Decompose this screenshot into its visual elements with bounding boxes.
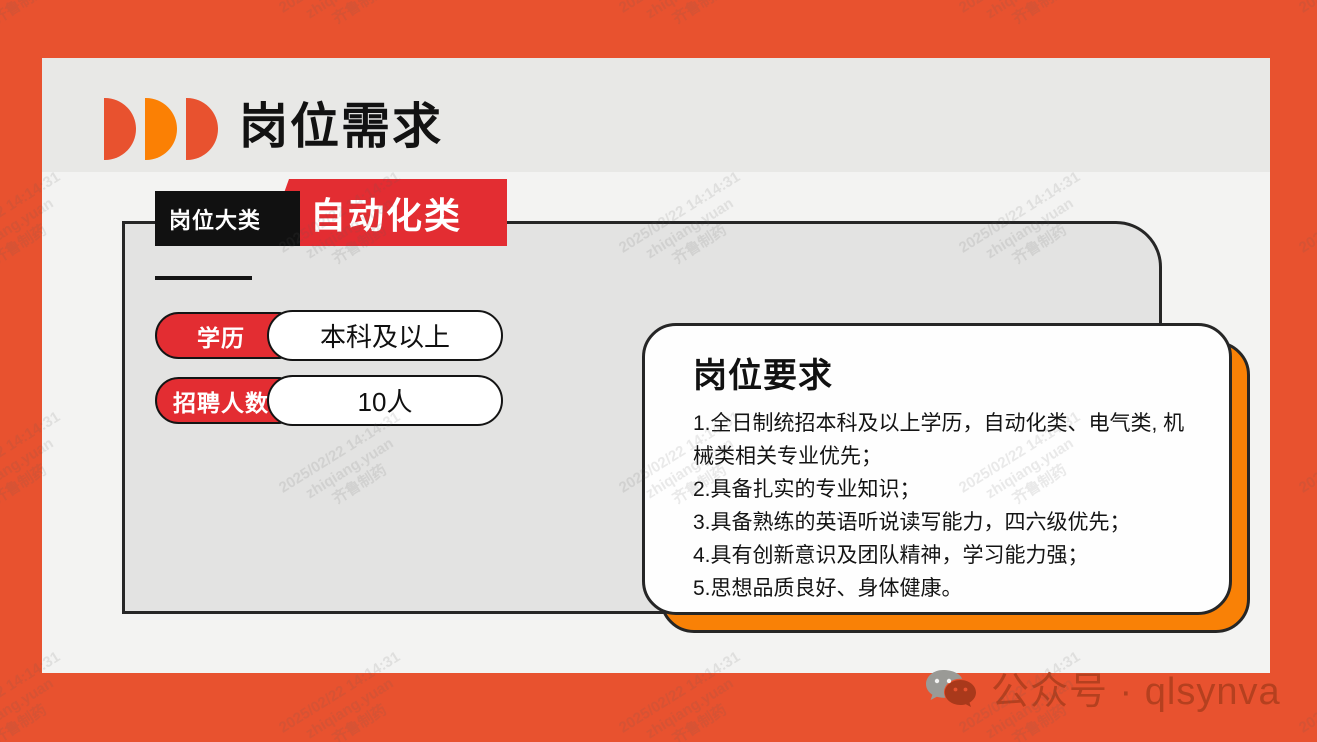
requirement-item-1: 1.全日制统招本科及以上学历，自动化类、电气类, 机械类相关专业优先；	[693, 407, 1199, 473]
watermark-text: 2025/02/22 14:14:31zhiqiang.yuan齐鲁制药	[1295, 167, 1317, 289]
divider-rule	[155, 276, 252, 280]
header-band: 岗位需求	[42, 58, 1270, 172]
category-label: 岗位大类	[155, 191, 300, 246]
logo-d-shape-red-1	[104, 98, 136, 160]
slide-page: 岗位需求 岗位大类 自动化类 学历 本科及以上 招聘人数 10人 岗位要求 1.…	[42, 58, 1270, 673]
field-value-headcount: 10人	[267, 375, 503, 426]
brand-logo	[104, 98, 218, 160]
watermark-text: 2025/02/22 14:14:31zhiqiang.yuan齐鲁制药	[1295, 647, 1317, 742]
footer-brand-text: 公众号 · qlsynva	[991, 660, 1281, 715]
category-value: 自动化类	[265, 179, 507, 246]
watermark-text: 2025/02/22 14:14:31zhiqiang.yuan齐鲁制药	[1295, 0, 1317, 50]
requirement-item-4: 4.具有创新意识及团队精神，学习能力强；	[693, 539, 1199, 572]
requirements-list: 1.全日制统招本科及以上学历，自动化类、电气类, 机械类相关专业优先； 2.具备…	[693, 407, 1199, 605]
requirement-item-2: 2.具备扎实的专业知识；	[693, 473, 1199, 506]
watermark-text: 2025/02/22 14:14:31zhiqiang.yuan齐鲁制药	[955, 0, 1103, 50]
field-value-education: 本科及以上	[267, 310, 503, 361]
requirement-item-5: 5.思想品质良好、身体健康。	[693, 572, 1199, 605]
footer-brand-mark: 公众号 · qlsynva	[925, 660, 1281, 715]
watermark-text: 2025/02/22 14:14:31zhiqiang.yuan齐鲁制药	[275, 0, 423, 50]
watermark-text: 2025/02/22 14:14:31zhiqiang.yuan齐鲁制药	[0, 0, 84, 50]
logo-d-shape-red-2	[186, 98, 218, 160]
left-info-column: 岗位大类 自动化类 学历 本科及以上 招聘人数 10人	[155, 191, 525, 442]
page-title: 岗位需求	[239, 92, 443, 162]
requirement-item-3: 3.具备熟练的英语听说读写能力，四六级优先；	[693, 506, 1199, 539]
category-banner: 岗位大类 自动化类	[155, 191, 507, 246]
watermark-text: 2025/02/22 14:14:31zhiqiang.yuan齐鲁制药	[615, 0, 763, 50]
requirements-card: 岗位要求 1.全日制统招本科及以上学历，自动化类、电气类, 机械类相关专业优先；…	[642, 323, 1232, 615]
field-pill-education: 学历 本科及以上	[155, 312, 503, 359]
field-pill-headcount: 招聘人数 10人	[155, 377, 503, 424]
field-pill-list: 学历 本科及以上 招聘人数 10人	[155, 312, 525, 424]
requirements-title: 岗位要求	[693, 348, 1199, 397]
wechat-icon	[925, 668, 977, 708]
watermark-text: 2025/02/22 14:14:31zhiqiang.yuan齐鲁制药	[1295, 407, 1317, 529]
logo-d-shape-orange	[145, 98, 177, 160]
